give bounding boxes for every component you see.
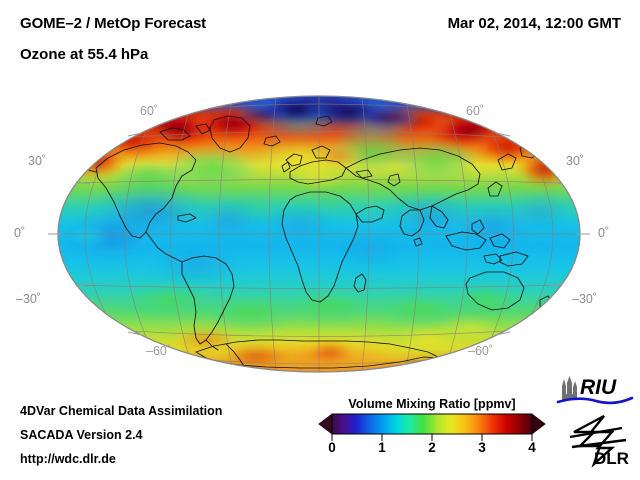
colorbar-tick-labels: 0 1 2 3 4 [318, 440, 546, 460]
lat-label-0-right: 0˚ [598, 226, 609, 240]
colorbar-tick-0: 0 [317, 440, 347, 455]
riu-wordmark: RIU [580, 376, 617, 399]
footer-line-method: 4DVar Chemical Data Assimilation [20, 404, 222, 418]
riu-logo: RIU [556, 374, 634, 410]
colorbar-title: Volume Mixing Ratio [ppmv] [318, 397, 546, 411]
dlr-logo: DLR [564, 414, 634, 468]
colorbar-tick-1: 1 [367, 440, 397, 455]
dlr-wordmark: DLR [594, 449, 629, 468]
lat-label-30n-right: 30˚ [566, 154, 584, 168]
lat-label-30s-right: –30˚ [572, 292, 597, 306]
lat-label-30s: –30˚ [16, 292, 41, 306]
lat-label-60s: –60˚ [146, 344, 171, 358]
riu-spires-icon [562, 376, 577, 400]
colorbar-tick-4: 4 [517, 440, 547, 455]
colorbar-extend-high [532, 414, 545, 434]
lat-label-0: 0˚ [14, 226, 25, 240]
colorbar-extend-low [319, 414, 332, 434]
figure-canvas: GOME–2 / MetOp Forecast Ozone at 55.4 hP… [0, 0, 640, 480]
footer-line-version: SACADA Version 2.4 [20, 428, 143, 442]
lat-label-30n: 30˚ [28, 154, 46, 168]
colorbar-tick-2: 2 [417, 440, 447, 455]
colorbar-tick-3: 3 [467, 440, 497, 455]
lat-label-60n-right: 60˚ [466, 104, 484, 118]
colorbar: Volume Mixing Ratio [ppmv] [318, 397, 546, 469]
footer-line-url[interactable]: http://wdc.dlr.de [20, 452, 116, 466]
lat-label-60s-right: –60˚ [468, 344, 493, 358]
lat-label-60n: 60˚ [140, 104, 158, 118]
colorbar-gradient [332, 414, 532, 434]
